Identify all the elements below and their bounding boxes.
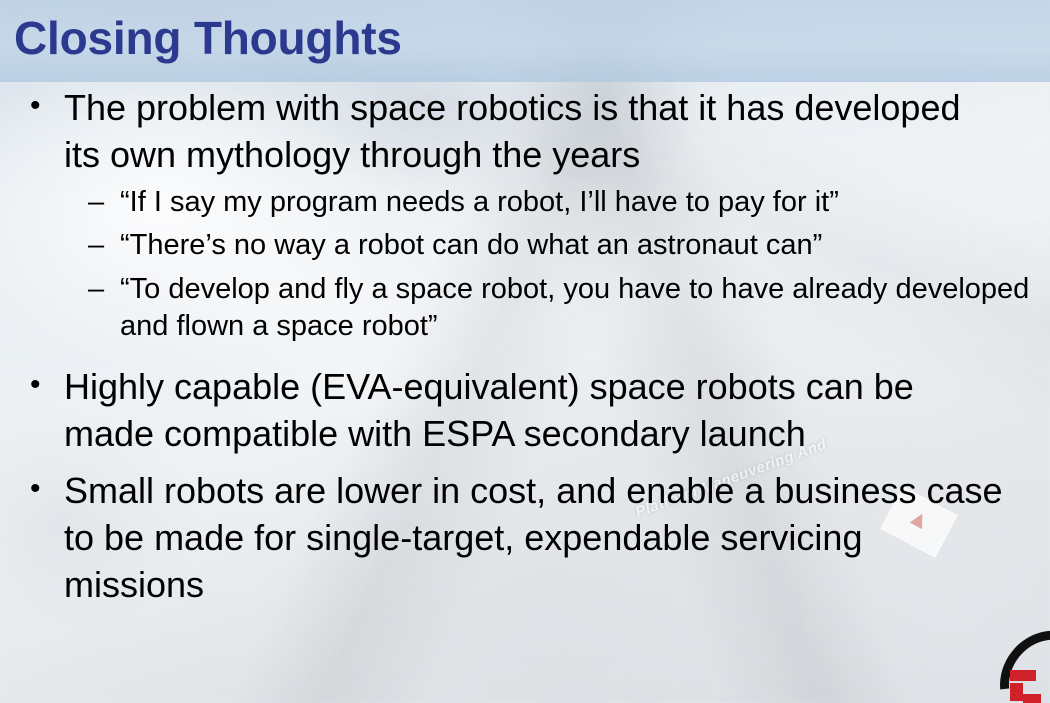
- spacer: [0, 355, 1050, 363]
- dash-marker-icon: –: [88, 227, 120, 264]
- logo-red-foot-icon: [1023, 694, 1041, 703]
- bullet-marker-icon: •: [30, 467, 64, 511]
- sub-bullet-text: “To develop and fly a space robot, you h…: [120, 271, 1050, 345]
- slide-body: • The problem with space robotics is tha…: [0, 84, 1050, 611]
- logo-red-bar-icon: [1010, 670, 1036, 681]
- bullet-item: • Small robots are lower in cost, and en…: [0, 467, 1050, 608]
- bullet-text: Highly capable (EVA-equivalent) space ro…: [64, 363, 1004, 457]
- bullet-text: Small robots are lower in cost, and enab…: [64, 467, 1004, 608]
- logo-red-block-icon: [1010, 683, 1023, 701]
- bullet-item: • Highly capable (EVA-equivalent) space …: [0, 363, 1050, 457]
- slide-title: Closing Thoughts: [14, 14, 402, 64]
- sub-bullet-text: “There’s no way a robot can do what an a…: [120, 227, 1050, 264]
- sub-bullet-text: “If I say my program needs a robot, I’ll…: [120, 184, 1050, 221]
- corner-logo: [996, 627, 1050, 703]
- dash-marker-icon: –: [88, 184, 120, 221]
- sub-bullet-item: – “To develop and fly a space robot, you…: [0, 271, 1050, 345]
- dash-marker-icon: –: [88, 271, 120, 308]
- bullet-item: • The problem with space robotics is tha…: [0, 84, 1050, 178]
- sub-bullet-item: – “There’s no way a robot can do what an…: [0, 227, 1050, 264]
- bullet-marker-icon: •: [30, 363, 64, 407]
- sub-bullet-item: – “If I say my program needs a robot, I’…: [0, 184, 1050, 221]
- bullet-text: The problem with space robotics is that …: [64, 84, 1004, 178]
- presentation-slide: Platform Maneuvering And Closing Thought…: [0, 0, 1050, 703]
- bullet-marker-icon: •: [30, 84, 64, 128]
- sub-bullet-group: – “If I say my program needs a robot, I’…: [0, 184, 1050, 344]
- logo-arc-icon: [996, 627, 1050, 703]
- spacer: [0, 459, 1050, 467]
